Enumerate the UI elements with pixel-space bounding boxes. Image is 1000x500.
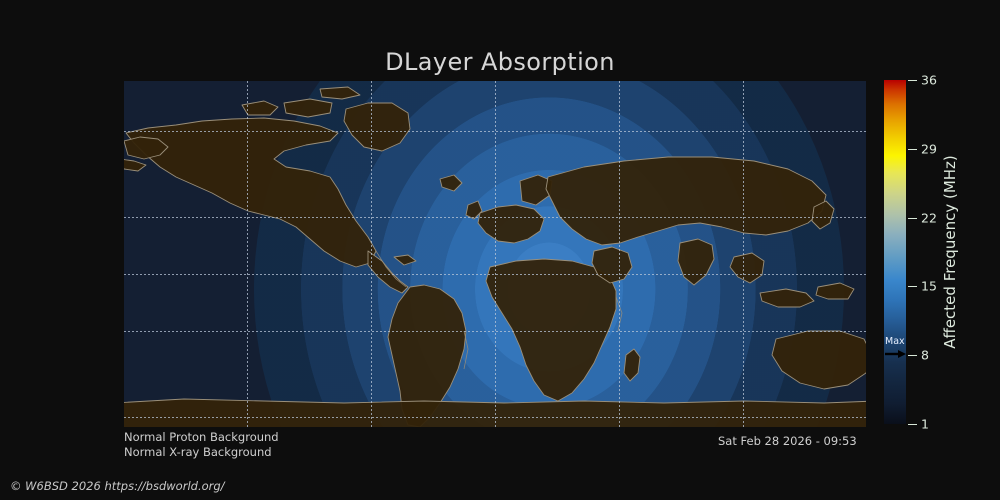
max-marker: Max xyxy=(884,339,906,357)
graticule-lon--120 xyxy=(247,81,248,427)
graticule-lon--60 xyxy=(371,81,372,427)
colorbar-ticklabel-22: 22 xyxy=(921,210,937,225)
colorbar-gradient xyxy=(884,80,906,424)
timestamp-label: Sat Feb 28 2026 - 09:53 xyxy=(718,434,857,448)
graticule-lat--30 xyxy=(124,331,866,332)
page-title: DLayer Absorption xyxy=(0,48,1000,76)
graticule-lon-0 xyxy=(495,81,496,427)
graticule-lon-120 xyxy=(743,81,744,427)
graticule-lat--60 xyxy=(124,417,866,418)
dlayer-absorption-figure: DLayer Absorption xyxy=(0,0,1000,500)
credit-line: © W6BSD 2026 https://bsdworld.org/ xyxy=(10,479,225,493)
max-arrow-icon xyxy=(885,350,906,358)
colorbar-axis-label-text: Affected Frequency (MHz) xyxy=(941,155,959,349)
colorbar-tick-36 xyxy=(908,80,917,81)
graticule-lat-30 xyxy=(124,217,866,218)
colorbar-tick-8 xyxy=(908,355,917,356)
colorbar-ticklabel-8: 8 xyxy=(921,348,929,363)
graticule-lat-60 xyxy=(124,131,866,132)
colorbar-axis-label: Affected Frequency (MHz) xyxy=(938,80,962,424)
map-axes[interactable] xyxy=(124,81,866,427)
colorbar-ticklabel-15: 15 xyxy=(921,279,937,294)
graticule-lon-60 xyxy=(619,81,620,427)
colorbar-tick-15 xyxy=(908,286,917,287)
colorbar-tick-29 xyxy=(908,149,917,150)
xray-background-status: Normal X-ray Background xyxy=(124,445,272,459)
max-marker-label: Max xyxy=(885,337,905,347)
proton-background-status: Normal Proton Background xyxy=(124,430,279,444)
colorbar-ticklabel-29: 29 xyxy=(921,141,937,156)
colorbar-ticklabel-36: 36 xyxy=(921,73,937,88)
colorbar-tick-22 xyxy=(908,218,917,219)
colorbar-ticklabel-1: 1 xyxy=(921,417,929,432)
graticule-lat-0 xyxy=(124,274,866,275)
colorbar-tick-1 xyxy=(908,424,917,425)
colorbar[interactable]: 36 29 22 15 8 1 Max xyxy=(884,80,906,424)
